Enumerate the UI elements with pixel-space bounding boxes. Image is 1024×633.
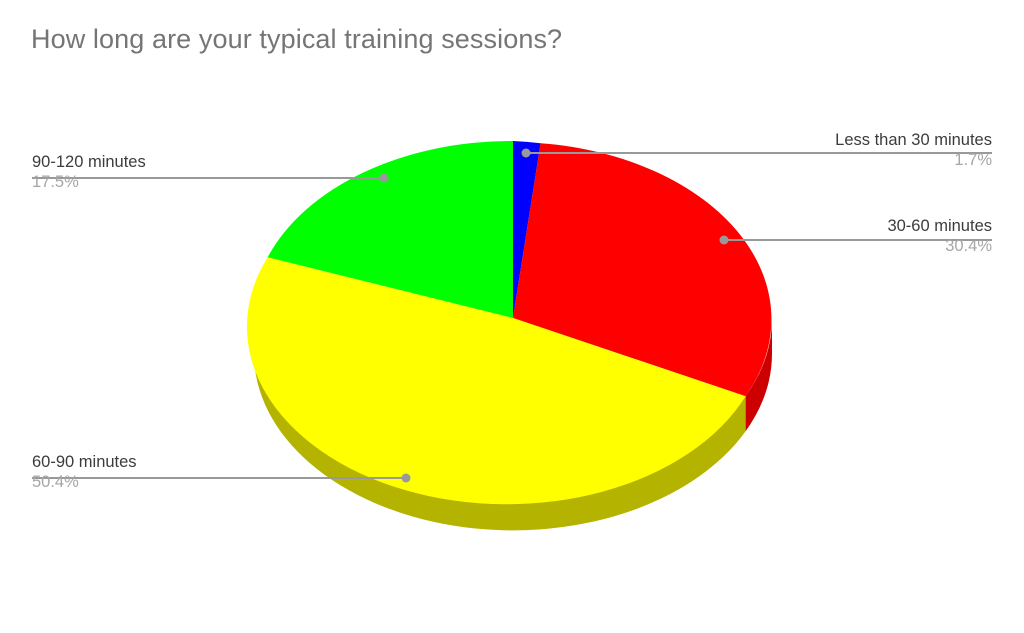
- pie-label-name: 30-60 minutes: [792, 216, 992, 236]
- pie-label-percent: 50.4%: [32, 472, 292, 493]
- pie-label-percent: 17.5%: [32, 172, 292, 193]
- leader-dot-less-than-30-minutes: [522, 149, 531, 158]
- pie-label-percent: 30.4%: [792, 236, 992, 257]
- pie-label-name: 60-90 minutes: [32, 452, 292, 472]
- pie-label-less-than-30-minutes: Less than 30 minutes 1.7%: [792, 130, 992, 171]
- chart-canvas: How long are your typical training sessi…: [0, 0, 1024, 633]
- leader-dot-90-120-minutes: [380, 174, 389, 183]
- pie-label-percent: 1.7%: [792, 150, 992, 171]
- leader-dot-60-90-minutes: [402, 474, 411, 483]
- pie-slices: [247, 141, 772, 504]
- pie-label-name: Less than 30 minutes: [792, 130, 992, 150]
- pie-label-30-60-minutes: 30-60 minutes 30.4%: [792, 216, 992, 257]
- pie-chart-graphic: [0, 0, 1024, 633]
- pie-label-90-120-minutes: 90-120 minutes 17.5%: [32, 152, 292, 193]
- pie-label-name: 90-120 minutes: [32, 152, 292, 172]
- pie-label-60-90-minutes: 60-90 minutes 50.4%: [32, 452, 292, 493]
- leader-dot-30-60-minutes: [720, 236, 729, 245]
